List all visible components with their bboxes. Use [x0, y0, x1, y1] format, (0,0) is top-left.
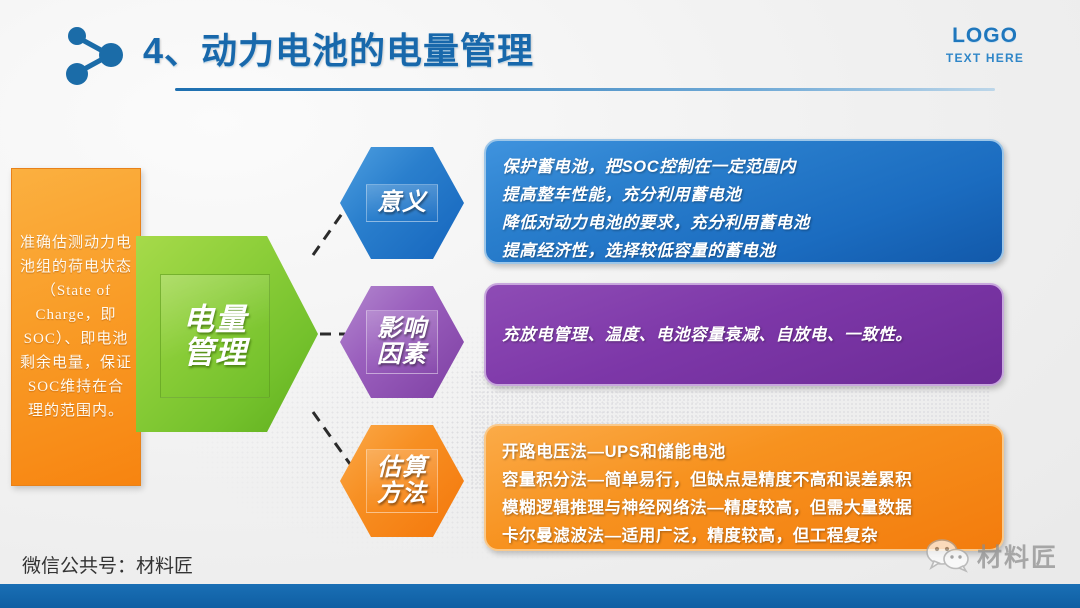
logo-subtext: TEXT HERE	[930, 51, 1040, 65]
center-node-label: 电量管理	[183, 303, 247, 370]
page-title: 4、动力电池的电量管理	[143, 22, 534, 74]
panel-line: 提高经济性，选择较低容量的蓄电池	[502, 237, 986, 265]
branch-hex-meaning-label: 意义	[366, 184, 438, 222]
watermark-text: 材料匠	[977, 538, 1058, 574]
connector-to-methods	[313, 412, 350, 464]
wechat-icon	[925, 539, 971, 573]
slide-header: 4、动力电池的电量管理 LOGO TEXT HERE	[0, 0, 1080, 100]
branch-hex-methods[interactable]: 估算方法	[340, 425, 464, 537]
panel-line: 提高整车性能，充分利用蓄电池	[502, 181, 986, 209]
definition-text: 准确估测动力电池组的荷电状态（State of Charge，即SOC）、即电池…	[20, 231, 132, 423]
branch-hex-meaning[interactable]: 意义	[340, 147, 464, 259]
content-panel-meaning: 保护蓄电池，把SOC控制在一定范围内 提高整车性能，充分利用蓄电池 降低对动力电…	[484, 139, 1004, 264]
footer-note: 微信公共号：材料匠	[22, 551, 193, 578]
panel-line: 容量积分法—简单易行，但缺点是精度不高和误差累积	[502, 466, 986, 494]
connector-to-meaning	[313, 205, 348, 255]
content-panel-methods: 开路电压法—UPS和储能电池 容量积分法—简单易行，但缺点是精度不高和误差累积 …	[484, 424, 1004, 551]
branch-hex-factors[interactable]: 影响因素	[340, 286, 464, 398]
content-panel-factors: 充放电管理、温度、电池容量衰减、自放电、一致性。	[484, 283, 1004, 386]
panel-line: 卡尔曼滤波法—适用广泛，精度较高，但工程复杂	[502, 522, 986, 550]
footer-bar	[0, 584, 1080, 608]
branch-hex-factors-label: 影响因素	[366, 310, 438, 375]
definition-card: 准确估测动力电池组的荷电状态（State of Charge，即SOC）、即电池…	[11, 168, 141, 486]
logo-text: LOGO	[930, 24, 1040, 48]
panel-line: 开路电压法—UPS和储能电池	[502, 438, 986, 466]
branch-hex-methods-label: 估算方法	[366, 449, 438, 514]
title-underline	[175, 88, 995, 91]
watermark: 材料匠	[925, 538, 1058, 574]
logo-block: LOGO TEXT HERE	[930, 24, 1040, 65]
panel-line: 保护蓄电池，把SOC控制在一定范围内	[502, 153, 986, 181]
panel-line: 充放电管理、温度、电池容量衰减、自放电、一致性。	[502, 321, 912, 349]
slide-root: 4、动力电池的电量管理 LOGO TEXT HERE 准确估测动力电池组的荷电状…	[0, 0, 1080, 608]
center-node-label-box: 电量管理	[160, 274, 270, 398]
panel-line: 降低对动力电池的要求，充分利用蓄电池	[502, 209, 986, 237]
panel-line: 模糊逻辑推理与神经网络法—精度较高，但需大量数据	[502, 494, 986, 522]
network-nodes-icon	[52, 20, 144, 90]
